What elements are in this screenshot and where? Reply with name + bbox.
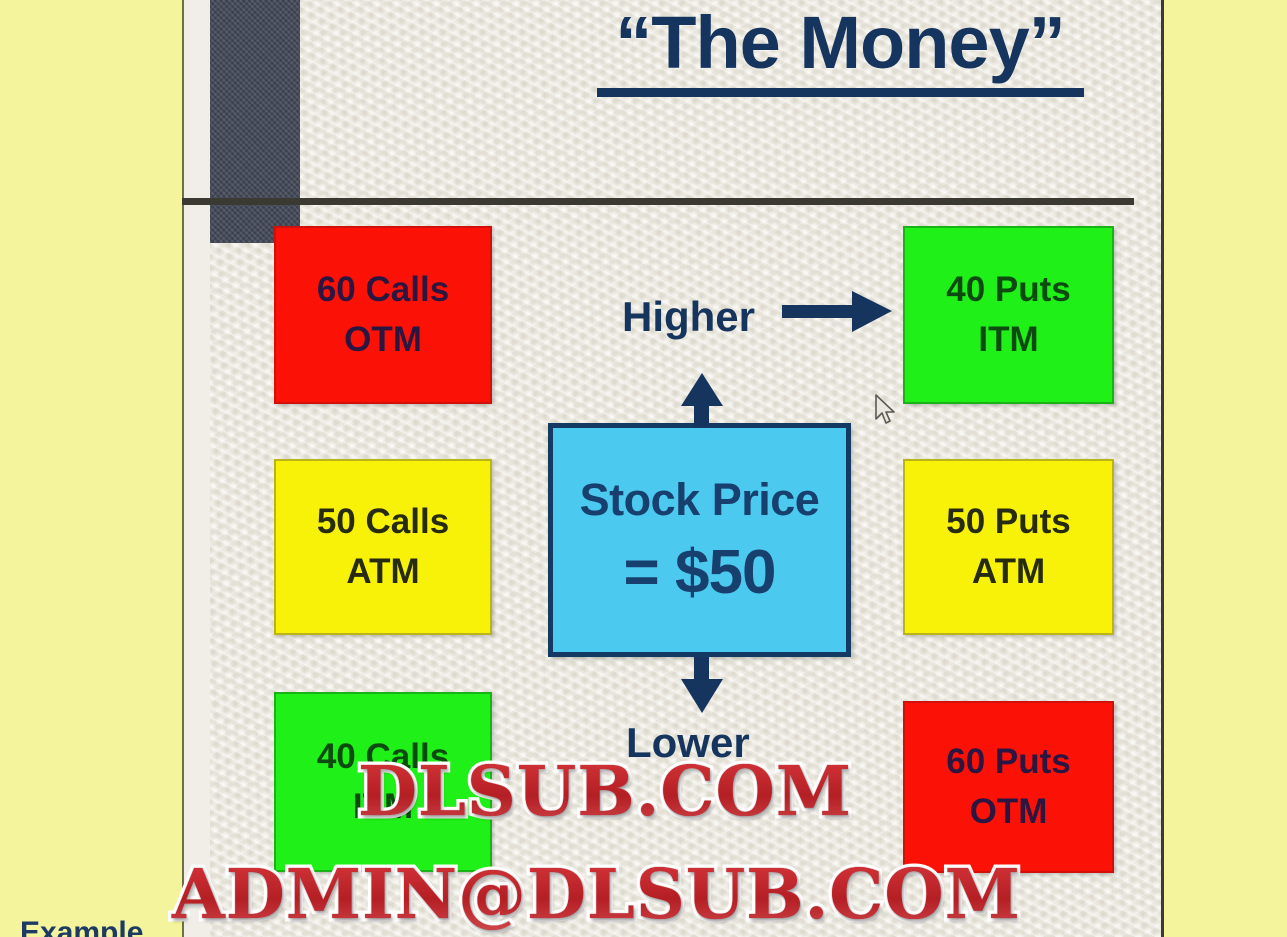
- stock-price-label: Stock Price: [580, 474, 820, 526]
- box-calls-otm-line1: 60 Calls: [317, 265, 449, 315]
- box-puts-atm: 50 Puts ATM: [903, 459, 1114, 635]
- box-puts-atm-line1: 50 Puts: [946, 497, 1071, 547]
- box-puts-otm-line2: OTM: [970, 787, 1048, 837]
- box-puts-otm-line1: 60 Puts: [946, 737, 1071, 787]
- box-calls-atm-line1: 50 Calls: [317, 497, 449, 547]
- box-puts-atm-line2: ATM: [972, 547, 1045, 597]
- stock-price-value: = $50: [624, 540, 776, 606]
- box-puts-itm-line1: 40 Puts: [946, 265, 1071, 315]
- page-title: “The Money”: [520, 2, 1160, 97]
- box-stock-price: Stock Price = $50: [548, 423, 851, 657]
- box-calls-otm: 60 Calls OTM: [274, 226, 492, 404]
- box-puts-itm-line2: ITM: [978, 315, 1038, 365]
- box-puts-itm: 40 Puts ITM: [903, 226, 1114, 404]
- box-calls-otm-line2: OTM: [344, 315, 422, 365]
- box-calls-atm: 50 Calls ATM: [274, 459, 492, 635]
- title-underline: [597, 88, 1084, 97]
- arrow-right-icon: [782, 287, 894, 337]
- arrow-up-icon: [676, 373, 728, 427]
- box-calls-atm-line2: ATM: [346, 547, 419, 597]
- decorative-dark-bar: [210, 0, 300, 243]
- page-title-text: “The Money”: [520, 2, 1160, 84]
- label-higher: Higher: [622, 293, 755, 341]
- mouse-cursor-icon: [874, 394, 900, 428]
- watermark-line1: DLSUB.COM: [358, 752, 852, 832]
- header-divider: [182, 198, 1134, 205]
- box-puts-otm: 60 Puts OTM: [903, 701, 1114, 873]
- arrow-down-icon: [676, 657, 728, 715]
- bottom-left-partial-text: Example: [20, 916, 143, 937]
- watermark-line2: ADMIN@DLSUB.COM: [172, 855, 1021, 935]
- slide-screenshot: “The Money” 60 Calls OTM 40 Puts ITM 50 …: [0, 0, 1287, 937]
- slide-left-strip: [184, 0, 210, 937]
